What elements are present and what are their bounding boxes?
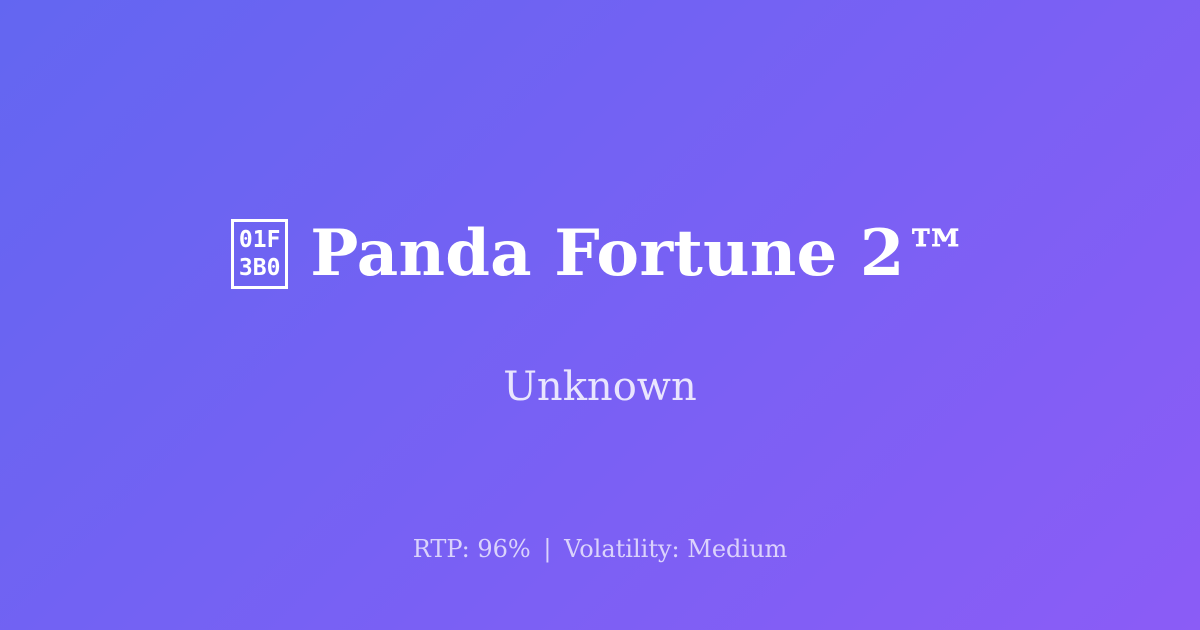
stats-separator: |: [538, 535, 556, 563]
title-row: 01F 3B0 Panda Fortune 2™: [0, 219, 1200, 289]
rtp-label: RTP:: [413, 535, 470, 563]
volatility-label: Volatility:: [564, 535, 680, 563]
volatility-value: Medium: [687, 535, 787, 563]
tofu-codepoint-top: 01F: [239, 226, 281, 254]
game-stats-line: RTP: 96% | Volatility: Medium: [0, 535, 1200, 564]
page-title: Panda Fortune 2™: [310, 220, 969, 287]
tofu-codepoint-bottom: 3B0: [239, 254, 281, 282]
provider-subtitle: Unknown: [503, 363, 697, 411]
og-card: 01F 3B0 Panda Fortune 2™ Unknown RTP: 96…: [0, 0, 1200, 630]
slot-machine-icon: 01F 3B0: [231, 219, 288, 289]
rtp-value: 96%: [477, 535, 530, 563]
